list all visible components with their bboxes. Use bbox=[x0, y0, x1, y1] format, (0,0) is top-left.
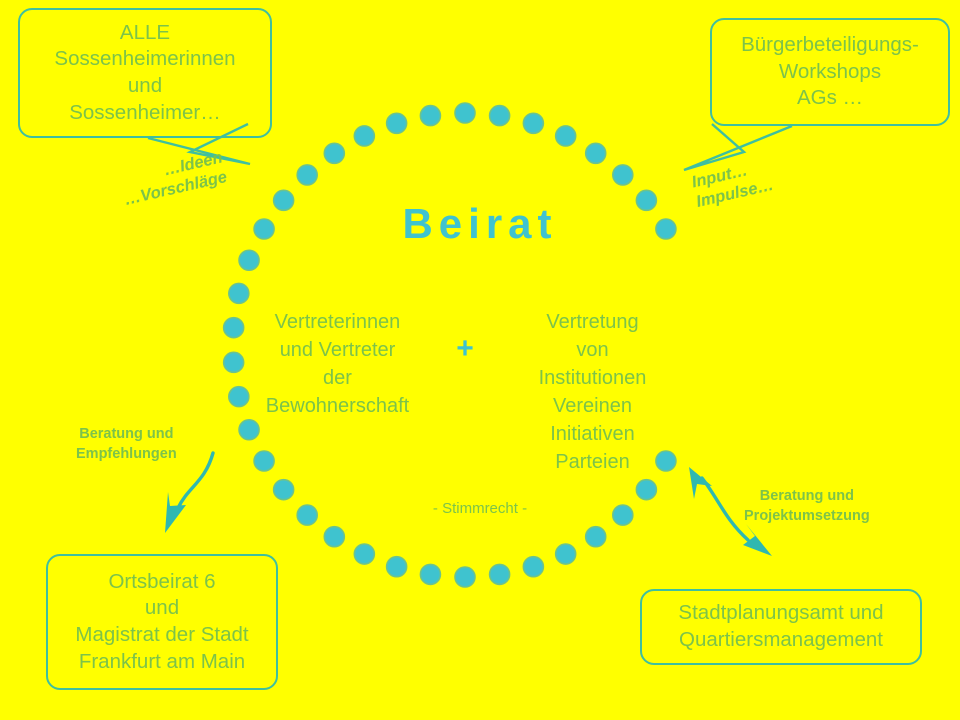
label-beratung-projekt-line-2: Projektumsetzung bbox=[744, 507, 870, 527]
ring-dot bbox=[274, 480, 294, 500]
ring-dot bbox=[354, 126, 374, 146]
ring-dot bbox=[324, 527, 344, 547]
ring-dot bbox=[556, 544, 576, 564]
ring-dot bbox=[387, 113, 407, 133]
ring-dot bbox=[556, 126, 576, 146]
page-title: Beirat bbox=[0, 200, 960, 248]
ring-dot bbox=[420, 564, 440, 584]
ring-dot bbox=[523, 113, 543, 133]
ring-dot bbox=[490, 564, 510, 584]
bubble-citizens-line-1: ALLE bbox=[120, 20, 170, 47]
column-institutions-line-2: von bbox=[510, 336, 675, 364]
ring-dot bbox=[239, 250, 259, 270]
box-ortsbeirat-line-3: Magistrat der Stadt bbox=[75, 622, 248, 649]
diagram-canvas: ALLE Sossenheimerinnen und Sossenheimer…… bbox=[0, 0, 960, 720]
column-residents-line-3: der bbox=[255, 364, 420, 392]
bubble-workshops-line-3: AGs … bbox=[797, 85, 863, 112]
ring-dot bbox=[297, 165, 317, 185]
ring-dot bbox=[455, 567, 475, 587]
ring-dot bbox=[224, 318, 244, 338]
box-stadtplanung-line-2: Quartiersmanagement bbox=[679, 627, 883, 654]
ring-dot bbox=[224, 352, 244, 372]
ring-dot bbox=[324, 143, 344, 163]
ring-dot bbox=[354, 544, 374, 564]
bubble-buergerbeteiligung[interactable]: Bürgerbeteiligungs- Workshops AGs … bbox=[710, 18, 950, 126]
ring-dot bbox=[229, 387, 249, 407]
arrow-beratung-empfehlungen bbox=[165, 453, 213, 533]
bubble-citizens-line-2: Sossenheimerinnen bbox=[54, 46, 235, 73]
center-composition: Vertreterinnen und Vertreter der Bewohne… bbox=[255, 308, 675, 476]
column-institutions-line-6: Parteien bbox=[510, 448, 675, 476]
column-institutions-line-5: Initiativen bbox=[510, 420, 675, 448]
box-ortsbeirat-line-4: Frankfurt am Main bbox=[79, 649, 245, 676]
ring-dot bbox=[420, 106, 440, 126]
column-institutions: Vertretung von Institutionen Vereinen In… bbox=[510, 308, 675, 476]
box-stadtplanung-line-1: Stadtplanungsamt und bbox=[678, 600, 883, 627]
bubble-citizens-line-4: Sossenheimer… bbox=[69, 100, 221, 127]
column-residents-line-2: und Vertreter bbox=[255, 336, 420, 364]
box-ortsbeirat-line-2: und bbox=[145, 595, 179, 622]
box-ortsbeirat-line-1: Ortsbeirat 6 bbox=[108, 569, 215, 596]
ring-dot bbox=[523, 557, 543, 577]
column-institutions-line-4: Vereinen bbox=[510, 392, 675, 420]
bubble-workshops-line-2: Workshops bbox=[779, 59, 881, 86]
box-ortsbeirat-magistrat[interactable]: Ortsbeirat 6 und Magistrat der Stadt Fra… bbox=[46, 554, 278, 690]
bubble-citizens-line-3: und bbox=[128, 73, 162, 100]
box-stadtplanungsamt-quartiersmanagement[interactable]: Stadtplanungsamt und Quartiersmanagement bbox=[640, 589, 922, 665]
column-institutions-line-3: Institutionen bbox=[510, 364, 675, 392]
bubble-all-citizens[interactable]: ALLE Sossenheimerinnen und Sossenheimer… bbox=[18, 8, 272, 138]
label-beratung-projekt-line-1: Beratung und bbox=[744, 487, 870, 507]
label-beratung-projektumsetzung: Beratung und Projektumsetzung bbox=[744, 487, 870, 526]
column-residents-line-1: Vertreterinnen bbox=[255, 308, 420, 336]
column-institutions-line-1: Vertretung bbox=[510, 308, 675, 336]
column-residents: Vertreterinnen und Vertreter der Bewohne… bbox=[255, 308, 420, 420]
ring-dot bbox=[387, 557, 407, 577]
label-beratung-empfehlungen: Beratung und Empfehlungen bbox=[76, 425, 177, 464]
ring-dot bbox=[586, 143, 606, 163]
ring-dot bbox=[613, 165, 633, 185]
ring-dot bbox=[586, 527, 606, 547]
label-beratung-empfehlungen-line-1: Beratung und bbox=[76, 425, 177, 445]
plus-icon: + bbox=[442, 308, 488, 364]
column-residents-line-4: Bewohnerschaft bbox=[255, 392, 420, 420]
ring-dot bbox=[229, 283, 249, 303]
bubble-workshops-line-1: Bürgerbeteiligungs- bbox=[741, 32, 919, 59]
ring-dot bbox=[455, 103, 475, 123]
ring-dot bbox=[636, 480, 656, 500]
label-beratung-empfehlungen-line-2: Empfehlungen bbox=[76, 445, 177, 465]
ring-dot bbox=[490, 106, 510, 126]
